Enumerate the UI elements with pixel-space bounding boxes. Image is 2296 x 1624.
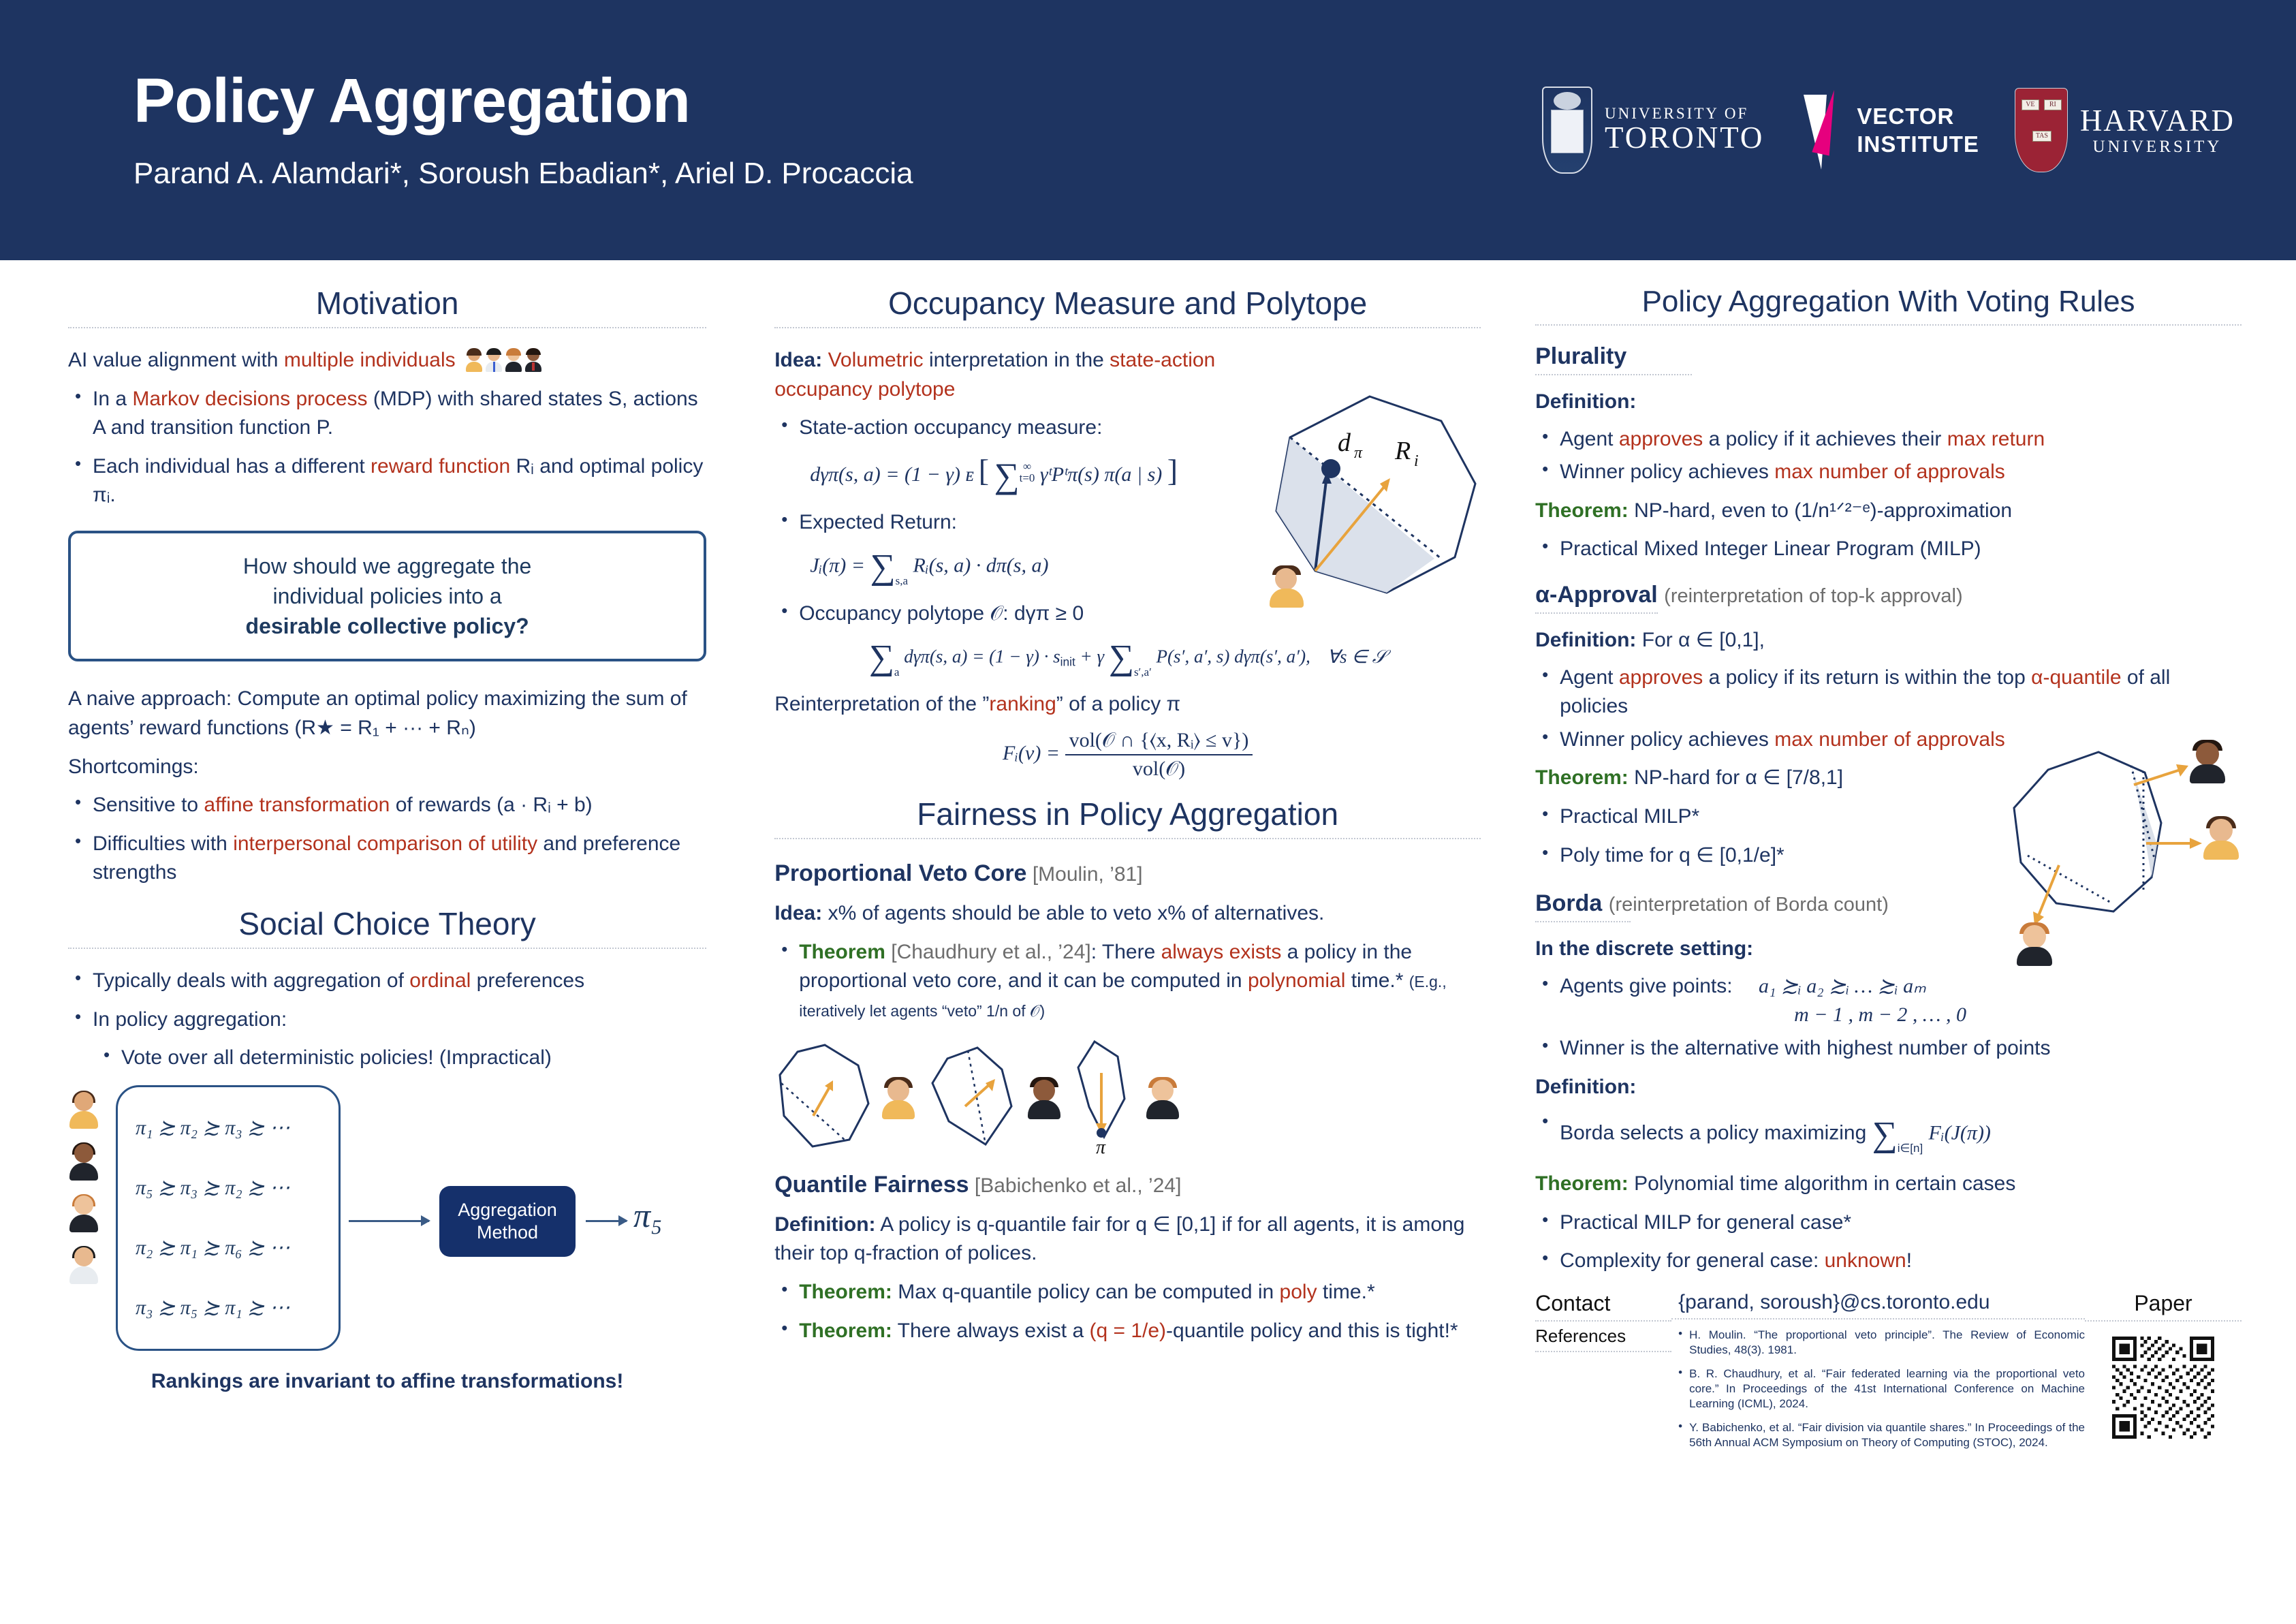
list-item: Winner policy achieves max number of app… [1535,458,2242,487]
veto-step-1 [774,1041,916,1153]
list-item: Agent approves a policy if its return is… [1535,663,2242,721]
section-title-occupancy: Occupancy Measure and Polytope [774,285,1481,327]
divider [774,327,1481,328]
divider [68,948,706,949]
avatar [2202,815,2240,860]
list-item: In policy aggregation: [68,1005,706,1035]
plurality-heading: Plurality [1535,343,2242,370]
avatar [1145,1076,1180,1119]
plurality-definition-label: Definition: [1535,388,2242,417]
uoft-wordmark: UNIVERSITY OF TORONTO [1605,106,1764,154]
list-item: Each individual has a different reward f… [68,452,706,510]
svg-text:i: i [1414,452,1419,470]
paper-label: Paper [2085,1287,2242,1322]
preference-profile-box: π₁ ≿ π₂ ≿ π₃ ≿ ⋯ π₅ ≿ π₃ ≿ π₂ ≿ ⋯ π₂ ≿ π… [116,1085,341,1351]
svg-text:d: d [1338,428,1351,457]
harvard-shield-icon: VERITAS [2015,88,2068,172]
footer-content: {parand, soroush}@cs.toronto.edu H. Moul… [1671,1287,2085,1459]
divider [1535,374,1692,375]
arrow-out-of-aggregator [586,1220,627,1222]
people-group-icon [465,349,542,372]
callout-line-2: individual policies into a [91,581,683,611]
reference-list: H. Moulin. “The proportional veto princi… [1671,1319,2085,1451]
alpha-approval-polytope-diagram [1976,743,2262,978]
list-item: State-action occupancy measure: [774,413,1251,443]
list-item: Occupancy polytope 𝒪: dγπ ≥ 0 [774,599,1481,629]
paper-column: Paper [2085,1287,2242,1439]
vector-institute-logo: VECTOR INSTITUTE [1799,89,1979,171]
qf-heading: Quantile Fairness [Babichenko et al., ’2… [774,1168,1481,1201]
list-item: Borda selects a policy maximizing ∑i∈[n]… [1535,1110,2242,1160]
agg-line-2: Method [477,1221,538,1243]
vector-line2: INSTITUTE [1857,130,1979,158]
callout-line-1: How should we aggregate the [91,551,683,581]
lead-red: multiple individuals [284,349,456,371]
uoft-crest-icon [1542,87,1592,174]
list-item: Y. Babichenko, et al. “Fair division via… [1676,1420,2085,1451]
veto-sequence-diagram: π [774,1036,1481,1159]
list-item: Winner is the alternative with highest n… [1535,1034,2242,1063]
uoft-line1: UNIVERSITY OF [1605,106,1764,122]
borda-title: Borda [1535,890,1602,916]
list-item: Practical MILP* [1535,802,1917,832]
list-item: Theorem: Max q-quantile policy can be co… [774,1278,1481,1307]
qf-definition: Definition: A policy is q-quantile fair … [774,1211,1481,1268]
list-item: Theorem [Chaudhury et al., ’24]: There a… [774,938,1481,1025]
references-label: References [1535,1322,1671,1352]
list-item: Vote over all deterministic policies! (I… [97,1044,706,1073]
lead-plain: AI value alignment with [68,349,284,371]
divider [68,327,706,328]
contact-email[interactable]: {parand, soroush}@cs.toronto.edu [1671,1287,2085,1319]
list-item: Practical Mixed Integer Linear Program (… [1535,535,2242,564]
section-title-social-choice: Social Choice Theory [68,905,706,948]
avatar [68,1194,99,1232]
divider [1535,921,1631,922]
alpha-extra-bullets: Practical MILP* Poly time for q ∈ [0,1/e… [1535,802,1917,870]
motivation-lead: AI value alignment with multiple individ… [68,346,706,375]
voter-avatars [68,1091,99,1284]
author-list: Parand A. Alamdari*, Soroush Ebadian*, A… [133,157,913,191]
list-item: Typically deals with aggregation of ordi… [68,967,706,996]
ranking-row: π₂ ≿ π₁ ≿ π₆ ≿ ⋯ [136,1236,339,1260]
list-item: In a Markov decisions process (MDP) with… [68,385,706,443]
occupancy-polytope-formula: ∑a dγπ(s, a) = (1 − γ) · sinit + γ ∑s′,a… [774,638,1481,678]
occupancy-bullets: State-action occupancy measure: [774,413,1251,443]
list-item: Difficulties with interpersonal comparis… [68,830,706,888]
list-item: Agent approves a policy if it achieves t… [1535,425,2242,454]
list-item: Poly time for q ∈ [0,1/e]* [1535,841,1917,871]
social-choice-subbullets: Vote over all deterministic policies! (I… [97,1044,706,1073]
uoft-logo: UNIVERSITY OF TORONTO [1542,87,1764,174]
section-title-fairness: Fairness in Policy Aggregation [774,796,1481,838]
ranking-row: π₅ ≿ π₃ ≿ π₂ ≿ ⋯ [136,1176,339,1200]
alpha-definition: Definition: For α ∈ [0,1], [1535,626,2242,655]
divider [1535,612,1658,614]
veto-step-2 [920,1041,1062,1153]
section-title-voting-rules: Policy Aggregation With Voting Rules [1535,285,2242,324]
shortcomings-list: Sensitive to affine transformation of re… [68,791,706,888]
svg-text:R: R [1394,437,1411,465]
research-question-callout: How should we aggregate the individual p… [68,531,706,661]
section-title-motivation: Motivation [68,285,706,327]
list-item: Sensitive to affine transformation of re… [68,791,706,820]
idea-red-1: Volumetric [828,349,924,371]
ranking-cdf-formula: Fᵢ(v) = vol(𝒪 ∩ {⟨x, Rᵢ⟩ ≤ v}) vol(𝒪) [774,729,1481,781]
aggregation-output: π₅ [633,1196,662,1235]
list-item: Theorem: There always exist a (q = 1/e)-… [774,1317,1481,1346]
column-voting-rules: Policy Aggregation With Voting Rules Plu… [1508,285,2269,1624]
qf-theorem-list: Theorem: Max q-quantile policy can be co… [774,1278,1481,1345]
naive-approach-text: A naive approach: Compute an optimal pol… [68,685,706,743]
occupancy-idea: Idea: Volumetric interpretation in the s… [774,346,1278,404]
agg-line-1: Aggregation [458,1199,557,1221]
divider [1535,324,2242,326]
callout-line-3: desirable collective policy? [91,611,683,641]
idea-mid: interpretation in the [924,349,1110,371]
qr-code-icon[interactable] [2112,1337,2214,1439]
svg-text:π: π [1354,444,1363,462]
avatar [68,1142,99,1181]
occupancy-polytope-diagram: d π R i 𝊒 [1251,388,1496,616]
header-text-block: Policy Aggregation Parand A. Alamdari*, … [0,69,913,191]
invariance-note: Rankings are invariant to affine transfo… [68,1370,706,1393]
motivation-bullets: In a Markov decisions process (MDP) with… [68,385,706,510]
plurality-milp-list: Practical Mixed Integer Linear Program (… [1535,535,2242,564]
poster-body: Motivation AI value alignment with multi… [0,260,2296,1624]
borda-definition-label: Definition: [1535,1073,2242,1102]
footer-labels: Contact References [1535,1287,1671,1352]
plurality-theorem: Theorem: NP-hard, even to (1/n¹ᐟ²⁻ᵉ)-app… [1535,497,2242,526]
list-item: Expected Return: [774,508,1251,537]
reinterpretation-text: Reinterpretation of the ”ranking” of a p… [774,690,1481,719]
pvc-idea: Idea: x% of agents should be able to vet… [774,899,1481,928]
list-item: Agents give points: a₁ ≿ᵢ a₂ ≿ᵢ … ≿ᵢ aₘ … [1535,972,2242,1030]
expected-return-bullet: Expected Return: [774,508,1251,537]
harvard-line2: UNIVERSITY [2080,138,2235,157]
svg-text:π: π [1096,1137,1106,1155]
harvard-line1: HARVARD [2080,104,2235,138]
shortcomings-label: Shortcomings: [68,753,706,782]
harvard-logo: VERITAS HARVARD UNIVERSITY [2015,88,2235,172]
social-choice-bullets: Typically deals with aggregation of ordi… [68,967,706,1034]
borda-points-values: m − 1 , m − 2 , … , 0 [1560,1001,2242,1030]
occupancy-polytope-bullet: Occupancy polytope 𝒪: dγπ ≥ 0 [774,599,1481,629]
divider [774,838,1481,839]
pvc-heading: Proportional Veto Core [Moulin, ’81] [774,857,1481,890]
pvc-theorem-list: Theorem [Chaudhury et al., ’24]: There a… [774,938,1481,1025]
contact-label: Contact [1535,1287,1671,1322]
alpha-approval-heading: α-Approval (reinterpretation of top-k ap… [1535,582,2242,608]
alpha-bullets: Agent approves a policy if its return is… [1535,663,2242,755]
ranking-aggregation-diagram: π₁ ≿ π₂ ≿ π₃ ≿ ⋯ π₅ ≿ π₃ ≿ π₂ ≿ ⋯ π₂ ≿ π… [68,1085,706,1358]
list-item: B. R. Chaudhury, et al. “Fair federated … [1676,1367,2085,1412]
harvard-wordmark: HARVARD UNIVERSITY [2080,104,2235,157]
avatar [68,1246,99,1284]
logo-group: UNIVERSITY OF TORONTO VECTOR INSTITUTE V… [1542,87,2235,174]
borda-definition-list: Borda selects a policy maximizing ∑i∈[n]… [1535,1110,2242,1160]
list-item: Practical MILP for general case* [1535,1208,2242,1238]
vector-arrow-icon [1799,89,1844,171]
poster-header: Policy Aggregation Parand A. Alamdari*, … [0,0,2296,260]
list-item: H. Moulin. “The proportional veto princi… [1676,1328,2085,1358]
vector-wordmark: VECTOR INSTITUTE [1857,102,1979,159]
avatar [881,1076,916,1119]
alpha-approval-note: (reinterpretation of top-k approval) [1664,585,1962,607]
occupancy-measure-formula: dγπ(s, a) = (1 − γ) ᴇ [ ∑∞t=0 γᵗPᵗπ(s) π… [774,452,1265,496]
borda-note: (reinterpretation of Borda count) [1609,894,1889,916]
ranking-row: π₁ ≿ π₂ ≿ π₃ ≿ ⋯ [136,1116,339,1140]
avatar [2188,738,2227,783]
poster-footer: Contact References {parand, soroush}@cs.… [1535,1287,2242,1459]
avatar [68,1091,99,1129]
column-occupancy-fairness: Occupancy Measure and Polytope Idea: Vol… [747,285,1508,1624]
borda-theorem: Theorem: Polynomial time algorithm in ce… [1535,1170,2242,1199]
avatar [2015,921,2054,966]
aggregation-method-box: Aggregation Method [439,1186,576,1257]
idea-label: Idea: [774,349,822,371]
list-item: Complexity for general case: unknown! [1535,1247,2242,1276]
column-motivation: Motivation AI value alignment with multi… [27,285,747,1624]
plurality-bullets: Agent approves a policy if it achieves t… [1535,425,2242,487]
avatar [1026,1076,1062,1119]
ranking-row: π₃ ≿ π₅ ≿ π₁ ≿ ⋯ [136,1296,339,1319]
veto-step-3: π [1066,1036,1180,1159]
alpha-approval-title: α-Approval [1535,582,1658,608]
page-title: Policy Aggregation [133,69,913,132]
arrow-into-aggregator [349,1220,429,1222]
vector-line1: VECTOR [1857,102,1979,130]
uoft-line2: TORONTO [1605,122,1764,154]
borda-points-list: Agents give points: a₁ ≿ᵢ a₂ ≿ᵢ … ≿ᵢ aₘ … [1535,972,2242,1063]
borda-extra-bullets: Practical MILP for general case* Complex… [1535,1208,2242,1276]
